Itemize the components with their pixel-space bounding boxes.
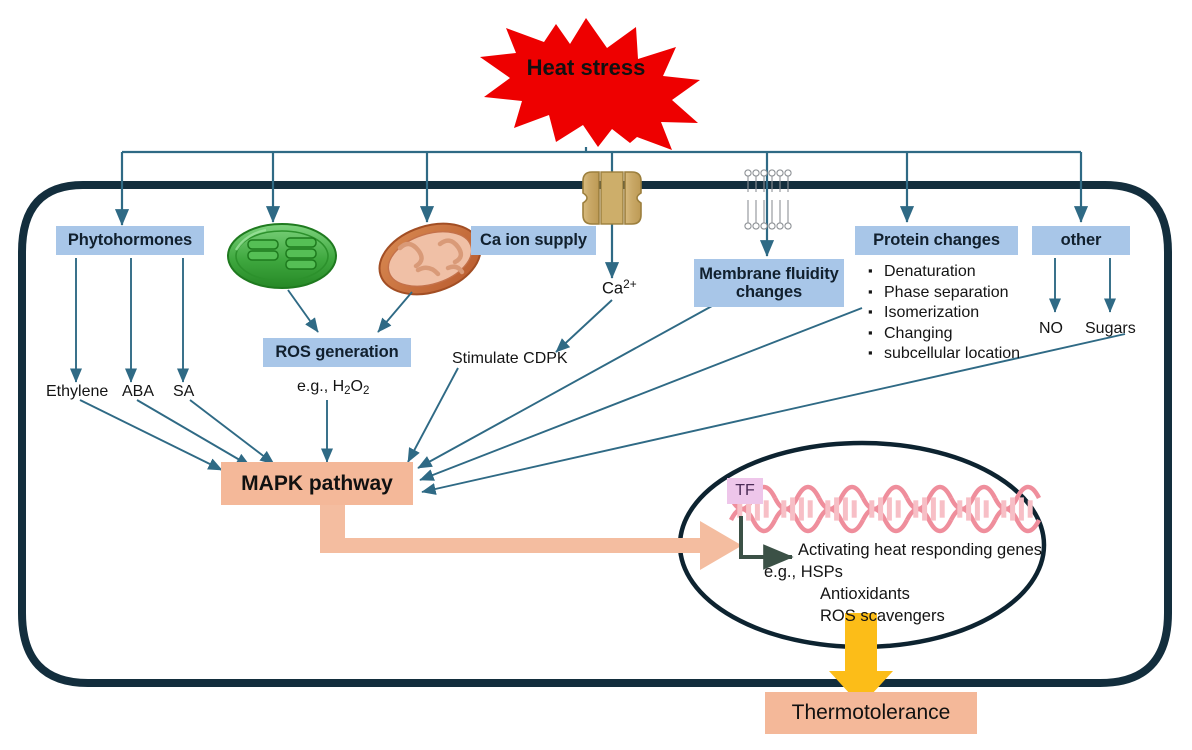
ros-generation-box[interactable]: ROS generation: [263, 338, 411, 367]
activation-line-4: ROS scavengers: [820, 605, 1042, 627]
list-item: Isomerization: [868, 303, 1068, 324]
ca-ion-supply-label: Ca ion supply: [480, 231, 587, 249]
membrane-fluidity-box[interactable]: Membrane fluidity changes: [694, 259, 844, 307]
hormone-label-ethylene: Ethylene: [46, 383, 108, 401]
thermotolerance-label: Thermotolerance: [792, 701, 951, 725]
h2o2-sub-2: 2: [363, 385, 369, 397]
calcium-ion-label: Ca2+: [602, 277, 637, 298]
protein-changes-label: Protein changes: [873, 231, 1000, 249]
list-item-continuation: subcellular location: [868, 344, 1068, 365]
thermotolerance-box[interactable]: Thermotolerance: [765, 692, 977, 734]
gene-activation-arrow: [741, 516, 792, 557]
transcription-factor-box[interactable]: TF: [727, 478, 763, 504]
activation-line-3: Antioxidants: [820, 583, 1042, 605]
other-box[interactable]: other: [1032, 226, 1130, 255]
dna-double-helix-icon: [731, 487, 1039, 531]
activation-line-2: e.g., HSPs: [764, 561, 1042, 583]
list-item: Changing: [868, 324, 1068, 345]
ros-generation-label: ROS generation: [275, 343, 398, 361]
heat-stress-label: Heat stress: [476, 55, 696, 81]
other-output-sugars: Sugars: [1085, 320, 1136, 338]
list-item: Phase separation: [868, 283, 1068, 304]
membrane-fluidity-line1: Membrane fluidity: [699, 265, 839, 283]
mapk-pathway-label: MAPK pathway: [241, 472, 393, 496]
phytohormone-arrows: [76, 258, 183, 382]
stimulate-cdpk-label: Stimulate CDPK: [452, 350, 568, 368]
gene-activation-text: Activating heat responding genes e.g., H…: [798, 539, 1042, 627]
ion-channel-protein-icon: [583, 172, 641, 224]
phytohormones-label: Phytohormones: [68, 231, 192, 249]
chloroplast-icon: [228, 224, 336, 288]
hormone-label-sa: SA: [173, 383, 194, 401]
diagram-canvas: Heat stress Phytohormones Ca ion supply …: [0, 0, 1192, 750]
calcium-charge-sup: 2+: [623, 277, 637, 291]
list-item: Denaturation: [868, 262, 1068, 283]
diagram-vector-layer: [0, 0, 1192, 750]
activation-line-1: Activating heat responding genes: [798, 539, 1042, 561]
calcium-to-cdpk-arrow: [556, 300, 612, 352]
hormone-label-aba: ABA: [122, 383, 154, 401]
tf-label: TF: [735, 482, 755, 500]
protein-changes-list: Denaturation Phase separation Isomerizat…: [868, 262, 1068, 365]
ros-example-label: e.g., H2O2: [297, 378, 369, 397]
phytohormones-box[interactable]: Phytohormones: [56, 226, 204, 255]
other-label: other: [1061, 231, 1102, 249]
mapk-pathway-box[interactable]: MAPK pathway: [221, 462, 413, 505]
membrane-fluidity-line2: changes: [736, 283, 802, 301]
ca-ion-supply-box[interactable]: Ca ion supply: [471, 226, 596, 255]
ros-source-arrows: [288, 290, 412, 332]
heat-stress-burst: [480, 18, 700, 150]
protein-changes-box[interactable]: Protein changes: [855, 226, 1018, 255]
